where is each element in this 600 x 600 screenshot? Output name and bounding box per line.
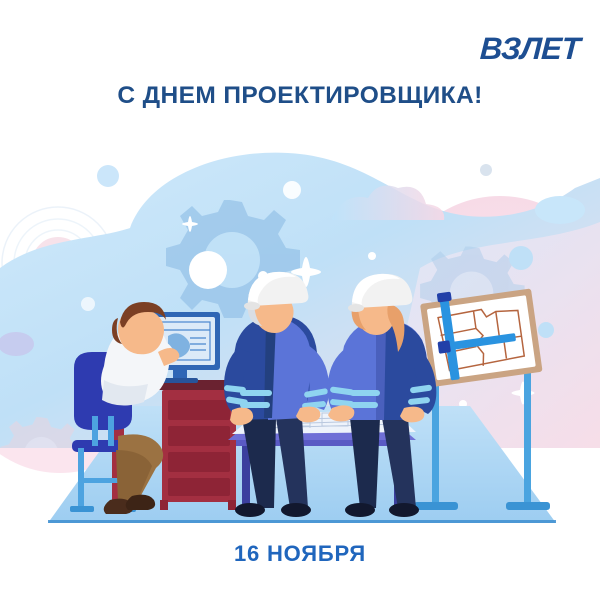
page-title: С ДНЕМ ПРОЕКТИРОВЩИКА!: [0, 82, 600, 110]
event-date: 16 НОЯБРЯ: [0, 541, 600, 567]
greeting-card: ВЗЛЕТ С ДНЕМ ПРОЕКТИРОВЩИКА!: [0, 0, 600, 600]
floor-edge: [48, 520, 556, 523]
illustration: [0, 118, 600, 523]
brand-wordmark: ВЗЛЕТ: [479, 33, 581, 64]
brand-logo[interactable]: ВЗЛЕТ: [440, 28, 580, 68]
